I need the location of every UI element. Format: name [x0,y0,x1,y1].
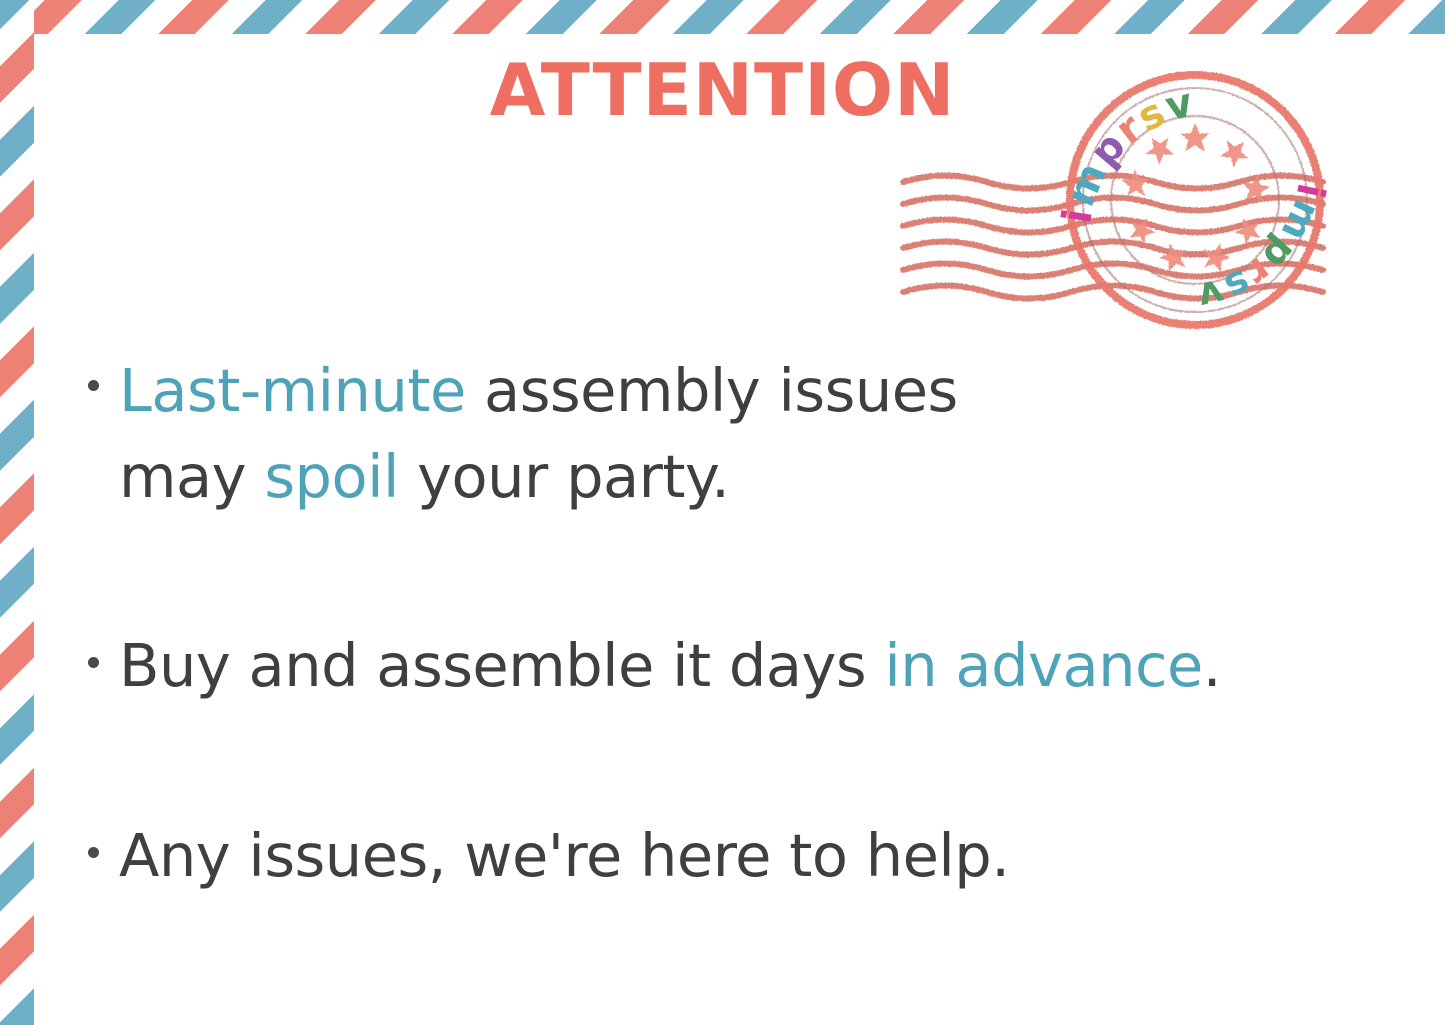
list-item: Last-minute assembly issues may spoil yo… [88,348,1408,519]
bullet-line: Buy and assemble it days in advance. [119,623,1221,709]
bullet-span-highlight: in advance [884,631,1202,700]
bullet-text: Any issues, we're here to help. [119,813,1010,899]
bullet-span-plain: Any issues, we're here to help. [119,821,1010,890]
bullet-span-plain: assembly issues [466,356,958,425]
bullet-line: may spoil your party. [119,434,958,520]
bullet-dot-icon [88,657,99,668]
bullet-line: Any issues, we're here to help. [119,813,1010,899]
bullet-dot-icon [88,380,99,391]
bullet-list: Last-minute assembly issues may spoil yo… [88,348,1408,898]
airmail-border-top [0,0,1445,34]
list-item: Buy and assemble it days in advance. [88,623,1408,709]
bullet-span-highlight: Last-minute [119,356,466,425]
bullet-dot-icon [88,847,99,858]
bullet-span-plain: Buy and assemble it days [119,631,884,700]
bullet-span-plain: your party. [399,442,729,511]
bullet-span-highlight: spoil [264,442,399,511]
attention-card: ATTENTION [0,0,1445,1025]
postmark-stamp-icon: imprsv imprsv [895,70,1365,335]
bullet-line: Last-minute assembly issues [119,348,958,434]
bullet-span-plain: . [1203,631,1221,700]
bullet-span-plain: may [119,442,264,511]
airmail-border-left [0,0,34,1025]
list-item: Any issues, we're here to help. [88,813,1408,899]
bullet-text: Last-minute assembly issues may spoil yo… [119,348,958,519]
bullet-text: Buy and assemble it days in advance. [119,623,1221,709]
